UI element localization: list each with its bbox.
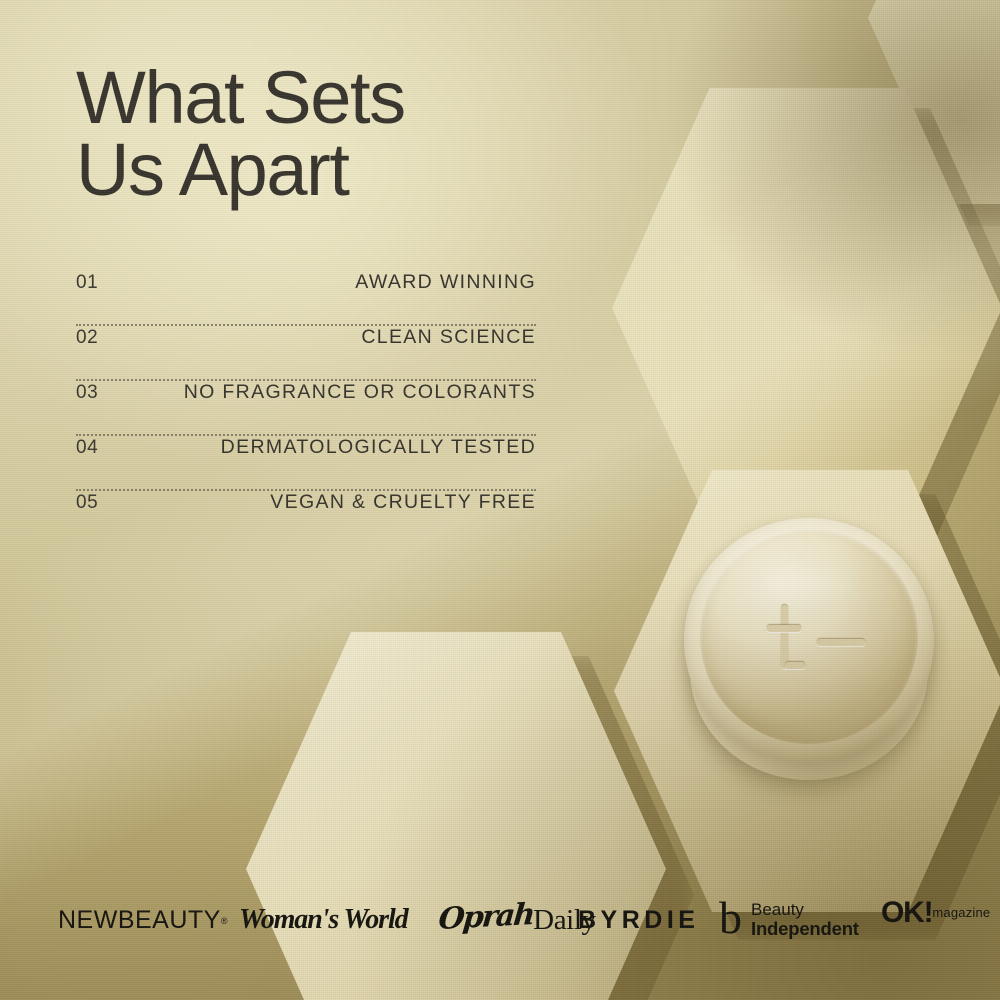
content-layer: What Sets Us Apart 01 AWARD WINNING 02 C… [0,0,1000,1000]
logo-ok-magazine: OK! magazine [881,898,990,928]
feature-number: 04 [76,437,98,459]
feature-separator [76,379,536,381]
logo-magazine-text: magazine [932,906,990,920]
logo-ok-text: OK! [881,898,932,928]
logo-beauty-line: Beauty [751,901,859,919]
feature-separator [76,434,536,436]
feature-row: 04 DERMATOLOGICALLY TESTED [76,436,536,489]
logo-beauty-independent-text: Beauty Independent [751,901,859,938]
feature-label: CLEAN SCIENCE [361,326,536,349]
feature-label: VEGAN & CRUELTY FREE [270,491,536,514]
logo-womans-world-text: Woman's World [239,904,408,936]
promo-graphic: What Sets Us Apart 01 AWARD WINNING 02 C… [0,0,1000,1000]
page-title: What Sets Us Apart [76,62,405,206]
beauty-independent-b-mark-icon: b [719,895,742,941]
feature-number: 05 [76,492,98,514]
feature-list: 01 AWARD WINNING 02 CLEAN SCIENCE 03 NO … [76,271,536,544]
feature-number: 03 [76,382,98,404]
feature-label: AWARD WINNING [355,271,536,294]
logo-byrdie-text: BYRDIE [578,906,699,935]
feature-number: 02 [76,327,98,349]
feature-row: 02 CLEAN SCIENCE [76,326,536,379]
feature-label: NO FRAGRANCE OR COLORANTS [184,381,536,404]
logo-oprah-script: Oprah [437,897,535,937]
feature-separator [76,324,536,326]
feature-separator [76,489,536,491]
logo-oprah-daily: OprahDaily [437,902,596,937]
logo-beauty-independent: b Beauty Independent [719,897,859,943]
registered-trademark-icon: ® [221,916,228,926]
logo-newbeauty: NEWBEAUTY® [58,906,228,935]
logo-byrdie: BYRDIE [578,906,699,935]
feature-row: 05 VEGAN & CRUELTY FREE [76,491,536,544]
feature-row: 01 AWARD WINNING [76,271,536,324]
logo-womans-world: Woman's World [239,904,408,936]
feature-number: 01 [76,272,98,294]
logo-independent-line: Independent [751,919,859,938]
feature-label: DERMATOLOGICALLY TESTED [221,436,536,459]
feature-row: 03 NO FRAGRANCE OR COLORANTS [76,381,536,434]
logo-newbeauty-text: NEWBEAUTY [58,906,221,935]
press-logo-bar: NEWBEAUTY® Woman's World OprahDaily BYRD… [0,892,1000,956]
